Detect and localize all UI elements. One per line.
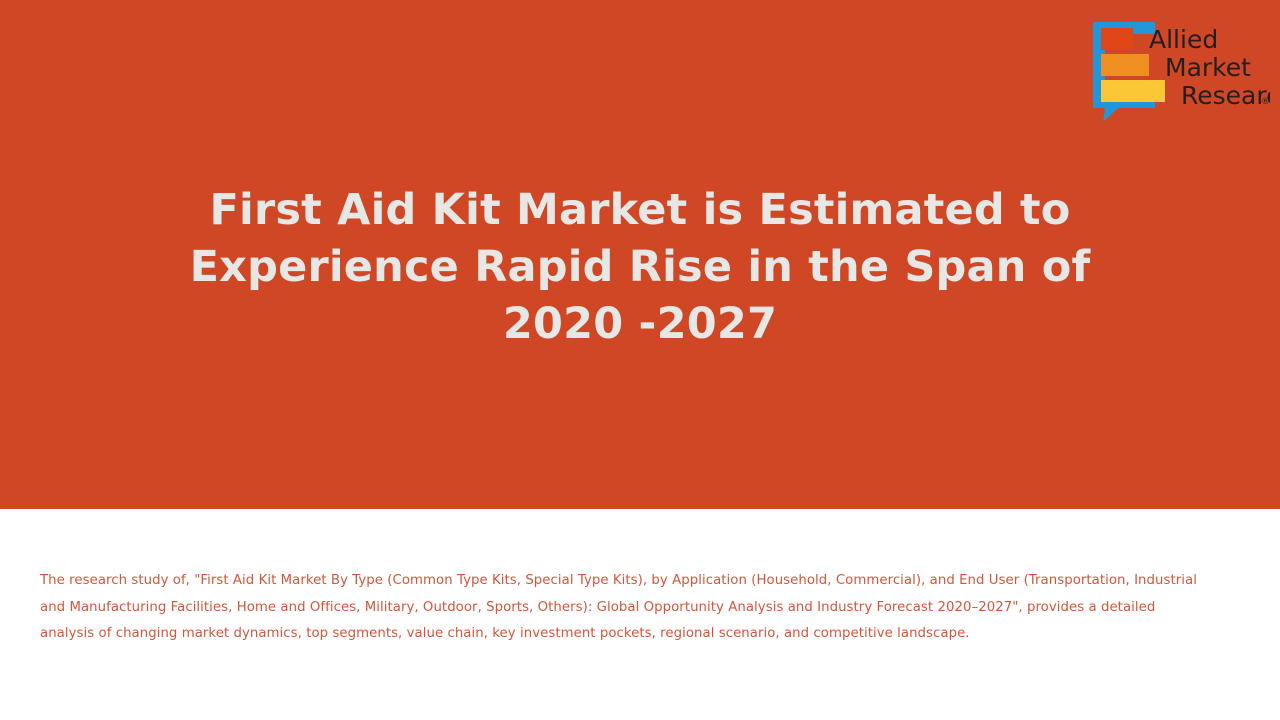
body-paragraph: The research study of, "First Aid Kit Ma… xyxy=(40,568,1200,648)
logo-text-allied: Allied xyxy=(1149,25,1218,54)
logo-svg: Allied Market Research ® xyxy=(1085,18,1270,120)
press-release-page: Allied Market Research ® First Aid Kit M… xyxy=(0,0,1280,720)
page-title-line-3: 2020 -2027 xyxy=(503,299,777,349)
logo-bar-middle xyxy=(1101,54,1149,76)
logo-text-research: Research xyxy=(1181,81,1270,110)
page-title: First Aid Kit Market is Estimated to Exp… xyxy=(90,182,1190,353)
logo-bar-top xyxy=(1101,28,1133,50)
logo-text-market: Market xyxy=(1165,53,1251,82)
page-title-line-2: Experience Rapid Rise in the Span of xyxy=(190,242,1091,292)
allied-market-research-logo[interactable]: Allied Market Research ® xyxy=(1085,18,1270,120)
logo-bar-bottom xyxy=(1101,80,1165,102)
page-title-line-1: First Aid Kit Market is Estimated to xyxy=(209,185,1070,235)
logo-trademark-symbol: ® xyxy=(1261,97,1270,107)
